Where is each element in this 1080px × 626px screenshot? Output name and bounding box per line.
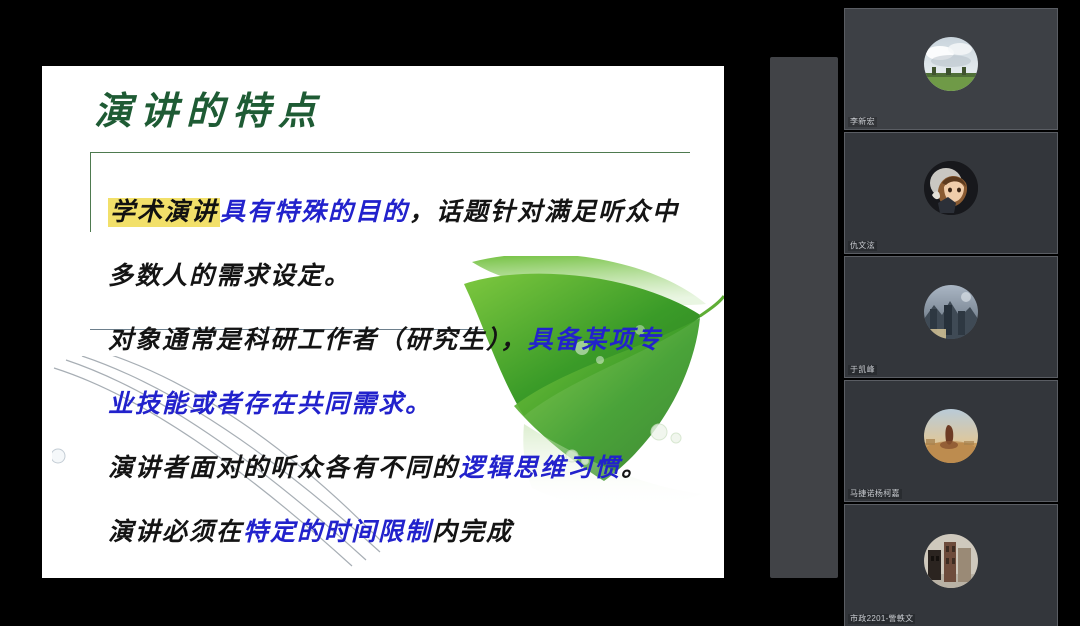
participant-name: 仇文泫 bbox=[848, 241, 877, 251]
slide-line-1: 学术演讲具有特殊的目的，话题针对满足听众中 bbox=[108, 181, 718, 245]
avatar bbox=[924, 37, 978, 91]
avatar bbox=[924, 409, 978, 463]
avatar bbox=[924, 161, 978, 215]
avatar bbox=[924, 534, 978, 588]
participant-tile[interactable]: 仇文泫 bbox=[844, 132, 1058, 254]
slide-line-3: 对象通常是科研工作者（研究生），具备某项专 bbox=[108, 309, 718, 373]
slide-line-3-seg-2: 具备某项专 bbox=[528, 327, 663, 354]
avatar bbox=[924, 285, 978, 339]
slide-line-1-seg-1: 学术演讲 bbox=[108, 198, 220, 227]
share-side-panel bbox=[770, 57, 838, 578]
participant-tile[interactable]: 市政2201-訾軼文 bbox=[844, 504, 1058, 626]
slide-line-6: 演讲必须在特定的时间限制内完成 bbox=[108, 501, 718, 565]
slide-line-5-seg-1: 演讲者面对的听众各有不同的 bbox=[108, 455, 459, 482]
slide-line-5: 演讲者面对的听众各有不同的逻辑思维习惯。 bbox=[108, 437, 718, 501]
participant-tile[interactable]: 马捷诺杨柯嘉 bbox=[844, 380, 1058, 502]
slide-body-text: 学术演讲具有特殊的目的，话题针对满足听众中 多数人的需求设定。 对象通常是科研工… bbox=[108, 181, 718, 565]
slide-rule-vertical bbox=[90, 152, 91, 232]
participant-name: 市政2201-訾軼文 bbox=[848, 614, 915, 624]
participant-strip[interactable]: 李新宏 仇文泫 bbox=[844, 8, 1058, 622]
participant-name: 于凯峰 bbox=[848, 365, 877, 375]
slide-line-4-seg-1: 业技能或者存在共同需求。 bbox=[108, 391, 432, 418]
slide-line-1-seg-2: 具有特殊的目的 bbox=[220, 199, 409, 226]
screen-share-region[interactable]: 演讲的特点 bbox=[0, 0, 768, 622]
slide-line-3-seg-1: 对象通常是科研工作者（研究生）， bbox=[108, 327, 528, 354]
participant-tile[interactable]: 于凯峰 bbox=[844, 256, 1058, 378]
participant-tile[interactable]: 李新宏 bbox=[844, 8, 1058, 130]
slide-rule-horizontal bbox=[90, 152, 690, 153]
slide-line-6-seg-2: 特定的时间限制 bbox=[243, 519, 432, 546]
slide-line-5-seg-3: 。 bbox=[621, 455, 648, 482]
slide-line-5-seg-2: 逻辑思维习惯 bbox=[459, 455, 621, 482]
slide-title: 演讲的特点 bbox=[94, 80, 324, 135]
slide-line-4: 业技能或者存在共同需求。 bbox=[108, 373, 718, 437]
slide-line-6-seg-1: 演讲必须在 bbox=[108, 519, 243, 546]
participant-name: 李新宏 bbox=[848, 117, 877, 127]
participant-name: 马捷诺杨柯嘉 bbox=[848, 489, 902, 499]
slide-line-2: 多数人的需求设定。 bbox=[108, 245, 718, 309]
slide-line-6-seg-3: 内完成 bbox=[432, 519, 513, 546]
presentation-slide[interactable]: 演讲的特点 bbox=[42, 66, 724, 578]
slide-line-2-seg-1: 多数人的需求设定。 bbox=[108, 263, 351, 290]
slide-line-1-seg-3: ，话题针对满足听众中 bbox=[409, 199, 679, 226]
